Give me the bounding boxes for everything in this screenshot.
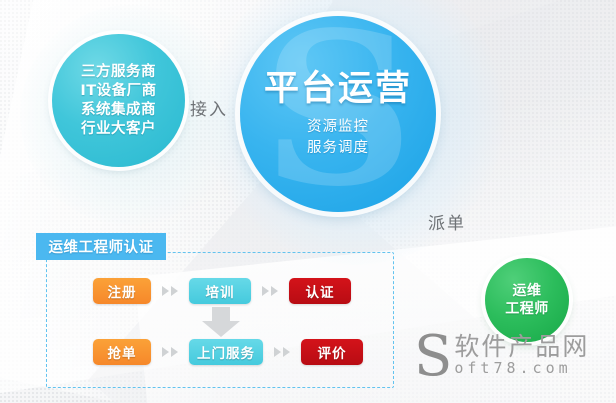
certification-flow-row-1: 注册 培训 认证 — [93, 278, 351, 304]
s-watermark-letter: S — [240, 16, 436, 210]
arrow-separator-icon — [274, 347, 290, 357]
triangle-icon — [171, 286, 178, 296]
step-onsite-service[interactable]: 上门服务 — [189, 339, 263, 365]
ops-engineer-line-2: 工程师 — [505, 300, 549, 318]
platform-operations-circle: S 平台运营 资源监控 服务调度 — [240, 16, 436, 212]
watermark-logo-letter: S — [414, 332, 452, 382]
platform-subtitle-2: 服务调度 — [307, 138, 369, 159]
step-certification[interactable]: 认证 — [289, 278, 351, 304]
triangle-icon — [271, 286, 278, 296]
partners-line-2: IT设备厂商 — [80, 82, 156, 101]
partners-line-4: 行业大客户 — [81, 120, 156, 139]
triangle-icon — [283, 347, 290, 357]
triangle-icon — [162, 347, 169, 357]
watermark-en-text: oft78.com — [454, 360, 589, 377]
step-evaluation[interactable]: 评价 — [301, 339, 363, 365]
step-training[interactable]: 培训 — [189, 278, 251, 304]
arrow-separator-icon — [162, 286, 178, 296]
ops-engineer-circle: 运维 工程师 — [485, 258, 569, 342]
site-watermark: S 软件产品网 oft78.com — [414, 332, 589, 382]
arrow-separator-icon — [162, 347, 178, 357]
arrow-separator-icon — [262, 286, 278, 296]
triangle-icon — [162, 286, 169, 296]
step-register[interactable]: 注册 — [93, 278, 151, 304]
partners-line-1: 三方服务商 — [81, 63, 156, 82]
certification-panel-tag: 运维工程师认证 — [36, 233, 166, 260]
partners-circle: 三方服务商 IT设备厂商 系统集成商 行业大客户 — [52, 34, 185, 167]
down-arrow-head — [202, 321, 240, 337]
infographic-canvas: 三方服务商 IT设备厂商 系统集成商 行业大客户 接入 S 平台运营 资源监控 … — [0, 0, 616, 403]
watermark-cn-text: 软件产品网 — [454, 333, 589, 360]
triangle-icon — [274, 347, 281, 357]
platform-title: 平台运营 — [264, 69, 412, 109]
inbound-connector-label: 接入 — [190, 95, 228, 120]
outbound-connector-label: 派单 — [428, 209, 466, 234]
certification-flow-row-2: 抢单 上门服务 评价 — [93, 339, 363, 365]
triangle-icon — [171, 347, 178, 357]
step-grab-order[interactable]: 抢单 — [93, 339, 151, 365]
triangle-icon — [262, 286, 269, 296]
partners-line-3: 系统集成商 — [81, 101, 156, 120]
ops-engineer-line-1: 运维 — [513, 282, 542, 300]
platform-subtitle-1: 资源监控 — [307, 117, 369, 138]
down-arrow-stem — [212, 307, 230, 322]
down-arrow-icon — [202, 307, 240, 337]
